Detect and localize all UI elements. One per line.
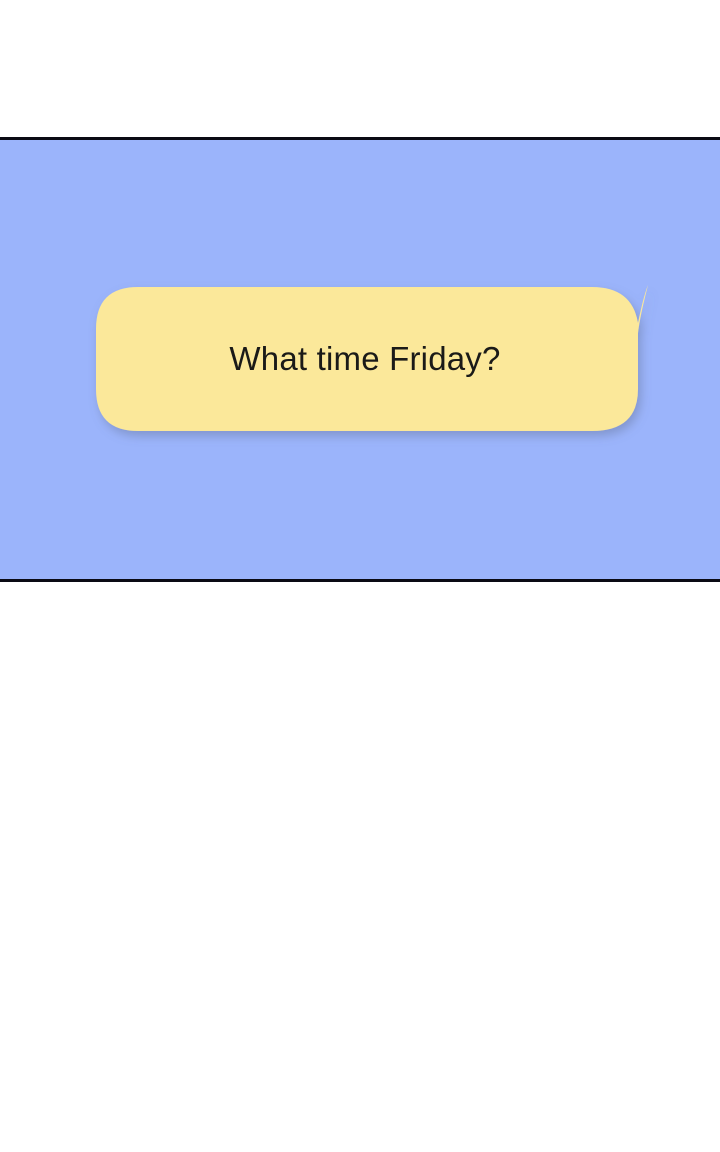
speech-bubble[interactable]: What time Friday? [92,283,654,443]
bottom-whitespace-gutter [0,582,720,1152]
top-whitespace-gutter [0,0,720,137]
speech-bubble-text: What time Friday? [92,283,638,435]
page-canvas: What time Friday? [0,0,720,1152]
comic-panel: What time Friday? [0,137,720,582]
